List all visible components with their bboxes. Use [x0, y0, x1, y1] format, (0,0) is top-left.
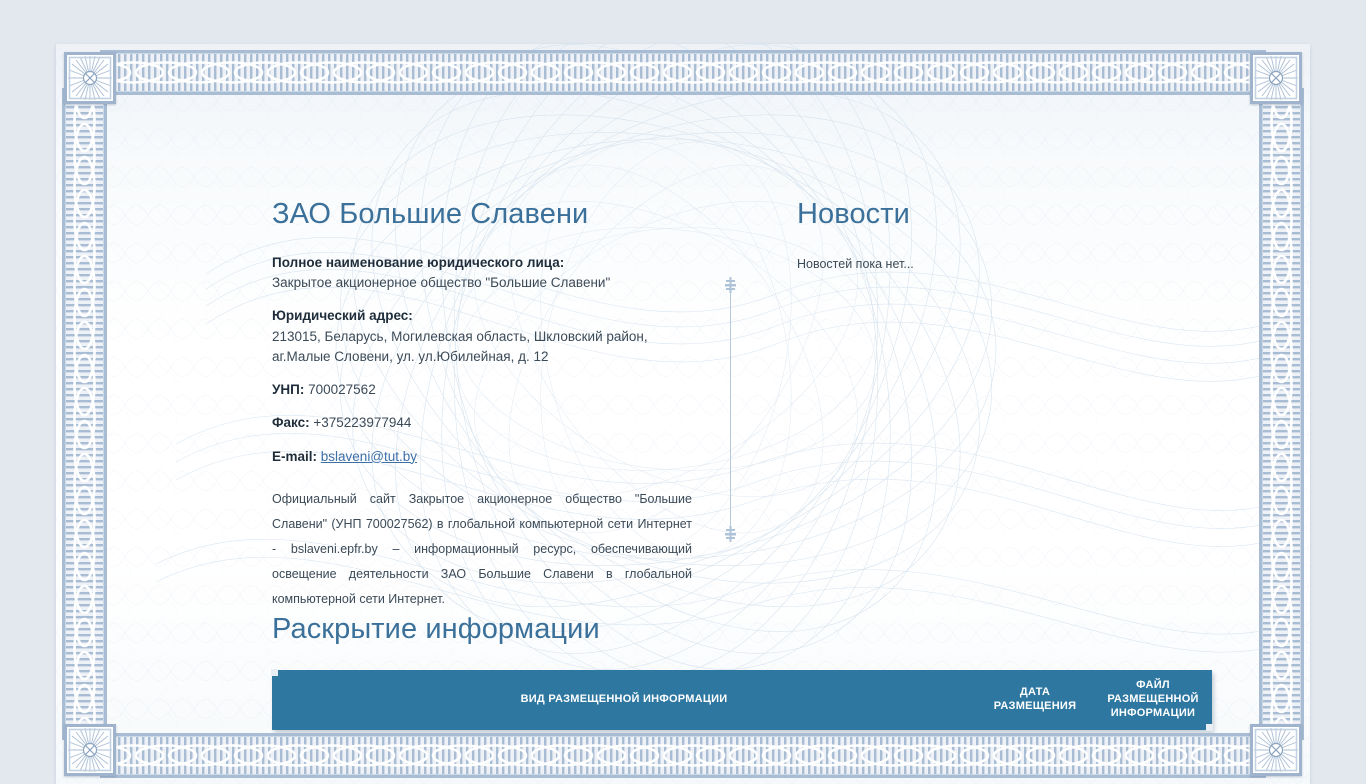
field-full-name-value: Закрытое акционерное общество "Большие С… — [272, 273, 697, 293]
border-band-top — [100, 50, 1266, 95]
column-header-kind[interactable]: ВИД РАЗМЕЩЕННОЙ ИНФОРМАЦИИ — [272, 693, 976, 707]
corner-rosette-ornament-icon — [1250, 52, 1302, 104]
field-legal-address-label: Юридический адрес: — [272, 306, 697, 326]
column-header-date[interactable]: ДАТА РАЗМЕЩЕНИЯ — [976, 686, 1094, 714]
field-unp-value: 700027562 — [308, 382, 376, 397]
border-band-left — [62, 88, 107, 740]
news-title: Новости — [797, 199, 1212, 231]
intro-columns: ЗАО Большие Славени Полное наименование … — [272, 199, 1212, 612]
company-info-column: ЗАО Большие Славени Полное наименование … — [272, 199, 697, 612]
email-link[interactable]: bslaveni@tut.by — [321, 449, 417, 464]
page-content: ЗАО Большие Славени Полное наименование … — [107, 95, 1259, 733]
column-header-file[interactable]: ФАЙЛ РАЗМЕЩЕННОЙ ИНФОРМАЦИИ — [1094, 679, 1212, 720]
corner-rosette-ornament-icon — [64, 724, 116, 776]
border-band-bottom — [100, 733, 1266, 778]
disclosure-title: Раскрытие информации — [272, 614, 1212, 646]
divider-line — [730, 285, 731, 534]
about-paragraph: Официальный сайт Закрытое акционерное об… — [272, 487, 692, 612]
field-full-name-label: Полное наименование юридического лица: — [272, 253, 697, 273]
field-fax-value: +375223977944 — [313, 415, 411, 430]
field-unp: УНП: 700027562 — [272, 380, 697, 400]
certificate-frame: ЗАО Большие Славени Полное наименование … — [56, 44, 1310, 784]
news-column: Новости Новостей пока нет... — [797, 199, 1212, 612]
field-unp-label: УНП: — [272, 382, 304, 397]
disclosure-table-header: ВИД РАЗМЕЩЕННОЙ ИНФОРМАЦИИ ДАТА РАЗМЕЩЕН… — [272, 670, 1212, 730]
field-fax-label: Факс: — [272, 415, 310, 430]
divider-cap-ornament-icon — [723, 277, 738, 293]
page-title: ЗАО Большие Славени — [272, 199, 697, 231]
corner-rosette-ornament-icon — [64, 52, 116, 104]
corner-rosette-ornament-icon — [1250, 724, 1302, 776]
column-divider — [697, 199, 797, 612]
field-legal-address: Юридический адрес: 213015, Беларусь, Мог… — [272, 306, 697, 367]
field-fax: Факс: +375223977944 — [272, 413, 697, 433]
field-email-label: E-mail: — [272, 449, 317, 464]
field-full-name: Полное наименование юридического лица: З… — [272, 253, 697, 294]
field-email: E-mail: bslaveni@tut.by — [272, 447, 697, 467]
field-legal-address-value: 213015, Беларусь, Могилевская область, Ш… — [272, 327, 697, 368]
border-band-right — [1259, 88, 1304, 740]
disclosure-section: Раскрытие информации ВИД РАЗМЕЩЕННОЙ ИНФ… — [272, 614, 1212, 730]
news-empty-message: Новостей пока нет... — [797, 257, 1212, 271]
divider-cap-ornament-icon — [723, 526, 738, 542]
